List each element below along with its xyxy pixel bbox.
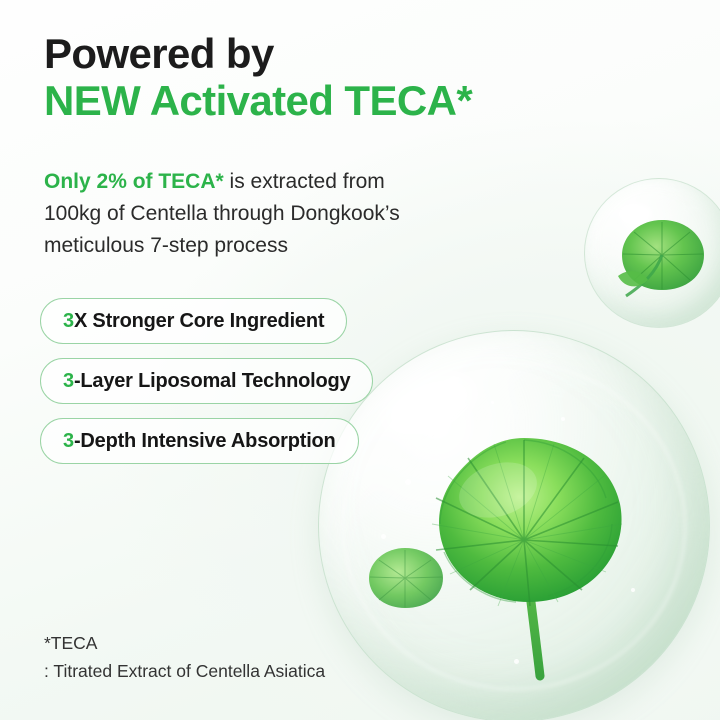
footnote-line-2: : Titrated Extract of Centella Asiatica (44, 657, 325, 686)
feature-pill-2-number: 3 (63, 370, 74, 393)
footnote-line-1: *TECA (44, 629, 325, 658)
water-droplet-small-icon (584, 178, 720, 328)
bubble-speck (608, 487, 611, 490)
bubble-rim (342, 362, 685, 690)
water-droplet-icon (318, 330, 710, 720)
centella-leaf-icon (398, 432, 648, 684)
promo-banner: Powered by NEW Activated TECA* Only 2% o… (0, 0, 720, 720)
centella-leaf-small-icon (604, 210, 714, 306)
bubble-speck (405, 479, 411, 485)
feature-pill-1-number: 3 (63, 310, 74, 333)
bubble-speck (561, 417, 565, 421)
bubble-speck (436, 432, 440, 436)
bubble-speck (413, 588, 417, 592)
page-title: Powered by NEW Activated TECA* (44, 30, 644, 124)
feature-pill-1: 3X Stronger Core Ingredient (40, 298, 347, 344)
footnote: *TECA : Titrated Extract of Centella Asi… (44, 629, 325, 686)
feature-pill-3-label: -Depth Intensive Absorption (74, 430, 336, 453)
feature-pill-2: 3-Layer Liposomal Technology (40, 358, 373, 404)
subheading-line-3: meticulous 7-step process (44, 234, 288, 257)
feature-list: 3X Stronger Core Ingredient 3-Layer Lipo… (40, 298, 373, 464)
bubble-speck (491, 401, 494, 404)
feature-pill-2-label: -Layer Liposomal Technology (74, 370, 351, 393)
feature-pill-3: 3-Depth Intensive Absorption (40, 418, 359, 464)
bubble-speck (631, 588, 635, 592)
headline-line-2: NEW Activated TECA* (44, 77, 644, 124)
subheading: Only 2% of TECA* is extracted from 100kg… (44, 166, 604, 262)
feature-pill-3-number: 3 (63, 430, 74, 453)
centella-leaf-side-icon (355, 542, 451, 616)
bubble-speck (514, 659, 519, 664)
feature-pill-1-label: X Stronger Core Ingredient (74, 310, 324, 333)
subheading-line-2: 100kg of Centella through Dongkook’s (44, 202, 400, 225)
headline-line-2-rest: Activated TECA* (140, 77, 472, 124)
subheading-highlight: Only 2% of TECA* (44, 170, 224, 193)
bubble-speck (381, 534, 386, 539)
subheading-line-1-rest: is extracted from (224, 170, 385, 193)
headline-line-1: Powered by (44, 30, 644, 77)
bubble-highlight (375, 362, 484, 448)
headline-highlight: NEW (44, 77, 140, 124)
bubble-highlight (618, 203, 652, 225)
